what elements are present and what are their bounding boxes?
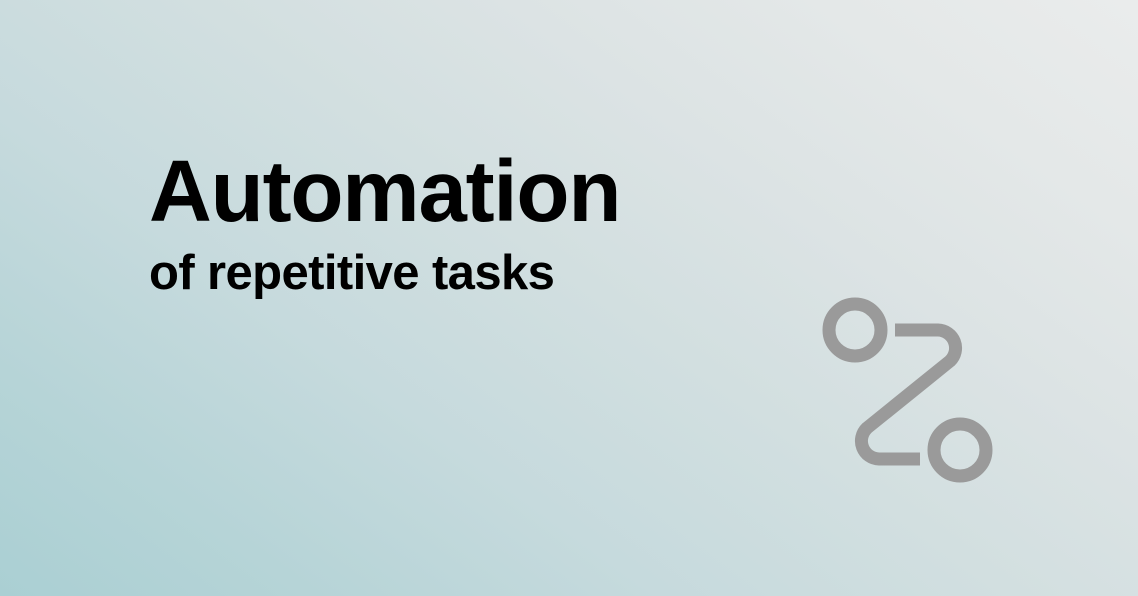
banner-text-block: Automation of repetitive tasks: [149, 148, 849, 298]
page-subtitle: of repetitive tasks: [149, 235, 849, 298]
route-workflow-svg: [805, 278, 1015, 486]
route-workflow-icon: [805, 278, 1015, 486]
page-title: Automation: [149, 148, 849, 235]
route-start-node-icon: [829, 304, 881, 356]
route-end-node-icon: [934, 424, 986, 476]
automation-banner: Automation of repetitive tasks: [0, 0, 1138, 596]
